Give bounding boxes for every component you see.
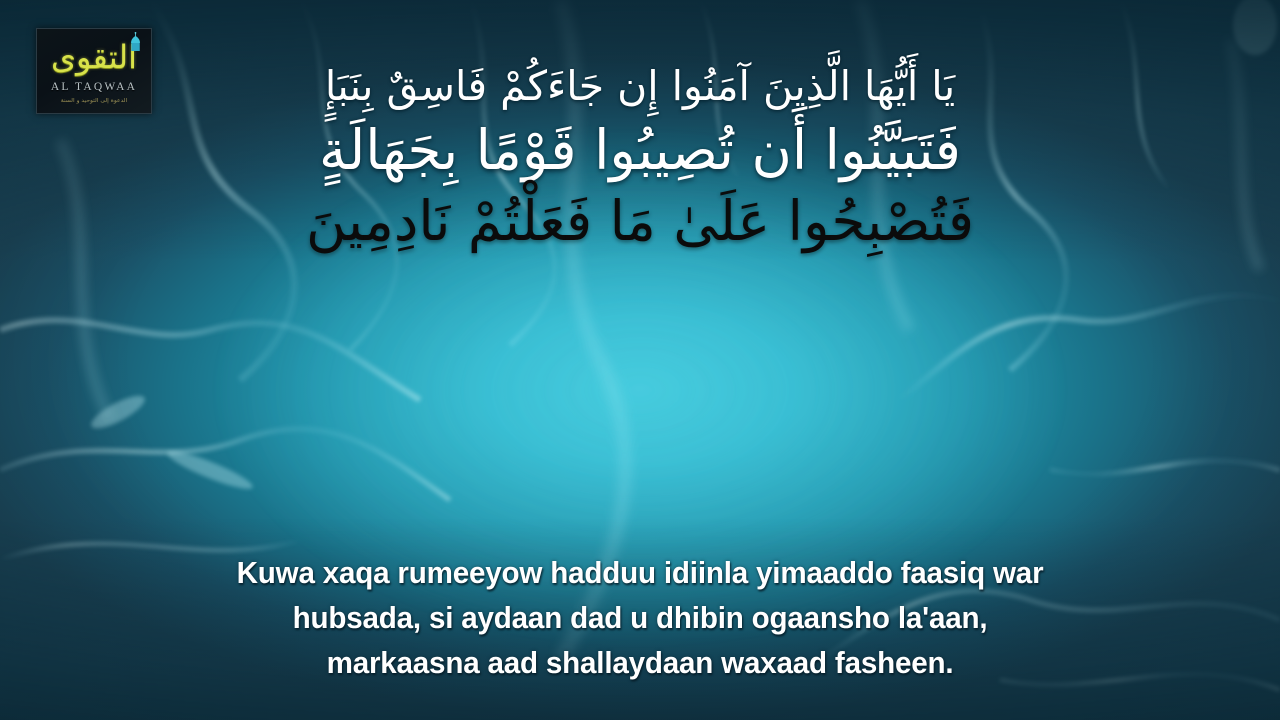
ayah-line-3: فَتُصْبِحُوا عَلَىٰ مَا فَعَلْتُمْ نَادِ… [0,194,1280,249]
ayah-line-1: يَا أَيُّهَا الَّذِينَ آمَنُوا إِن جَاءَ… [0,66,1280,107]
somali-translation-subtitle: Kuwa xaqa rumeeyow hadduu idiinla yimaad… [19,551,1261,686]
video-frame: التقوى AL TAQWAA الدعوة إلى التوحيد و ال… [0,0,1280,720]
ayah-line-2: فَتَبَيَّنُوا أَن تُصِيبُوا قَوْمًا بِجَ… [0,123,1280,178]
quran-verse-arabic: يَا أَيُّهَا الَّذِينَ آمَنُوا إِن جَاءَ… [0,66,1280,249]
translation-line-2: hubsada, si aydaan dad u dhibin ogaansho… [19,596,1261,641]
translation-line-3: markaasna aad shallaydaan waxaad fasheen… [19,641,1261,686]
mosque-dome-icon [129,32,142,52]
translation-line-1: Kuwa xaqa rumeeyow hadduu idiinla yimaad… [19,551,1261,596]
